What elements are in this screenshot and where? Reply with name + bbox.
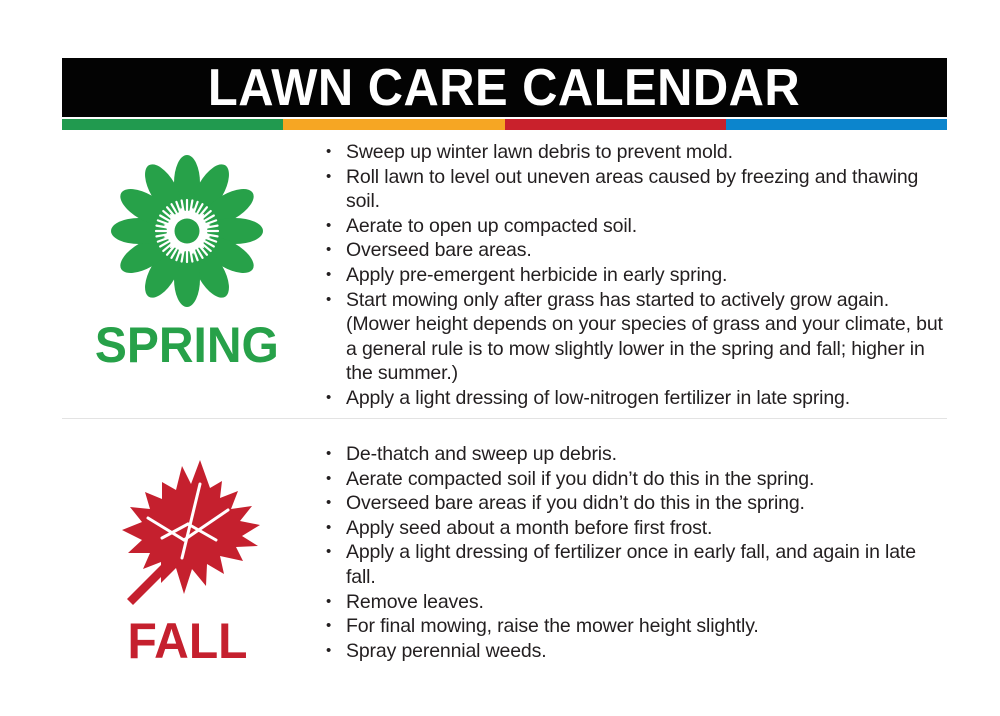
list-item: Start mowing only after grass has starte… — [322, 288, 947, 386]
list-item: Remove leaves. — [322, 590, 947, 615]
color-bar-segment-summer — [283, 119, 504, 130]
list-item: Aerate to open up compacted soil. — [322, 214, 947, 239]
list-item: De-thatch and sweep up debris. — [322, 442, 947, 467]
title-banner: LAWN CARE CALENDAR — [62, 58, 947, 117]
list-item: Apply pre-emergent herbicide in early sp… — [322, 263, 947, 288]
list-item: Overseed bare areas if you didn’t do thi… — [322, 491, 947, 516]
list-item: Apply a light dressing of fertilizer onc… — [322, 540, 947, 589]
season-section-fall: FALL De-thatch and sweep up debris.Aerat… — [62, 442, 947, 666]
color-bar-segment-fall — [505, 119, 726, 130]
fall-task-list: De-thatch and sweep up debris.Aerate com… — [312, 442, 947, 663]
list-item: Spray perennial weeds. — [322, 639, 947, 664]
color-bar-segment-spring — [62, 119, 283, 130]
maple-leaf-icon — [112, 454, 262, 614]
list-item: Sweep up winter lawn debris to prevent m… — [322, 140, 947, 165]
season-label-spring: SPRING — [95, 320, 279, 370]
spring-icon-column: SPRING — [62, 140, 312, 370]
flower-icon — [108, 154, 266, 316]
page-title: LAWN CARE CALENDAR — [208, 62, 800, 114]
list-item: Apply a light dressing of low-nitrogen f… — [322, 386, 947, 411]
color-bar-segment-winter — [726, 119, 947, 130]
list-item: Aerate compacted soil if you didn’t do t… — [322, 467, 947, 492]
list-item: Apply seed about a month before first fr… — [322, 516, 947, 541]
season-label-fall: FALL — [127, 616, 247, 666]
season-color-bar — [62, 119, 947, 130]
section-divider — [62, 418, 947, 419]
list-item: Roll lawn to level out uneven areas caus… — [322, 165, 947, 214]
list-item: Overseed bare areas. — [322, 238, 947, 263]
spring-task-list: Sweep up winter lawn debris to prevent m… — [312, 140, 947, 411]
list-item: For final mowing, raise the mower height… — [322, 614, 947, 639]
season-section-spring: SPRING Sweep up winter lawn debris to pr… — [62, 140, 947, 411]
lawn-care-calendar-poster: LAWN CARE CALENDAR SPRING Sweep up winte… — [0, 0, 1000, 716]
fall-icon-column: FALL — [62, 442, 312, 666]
